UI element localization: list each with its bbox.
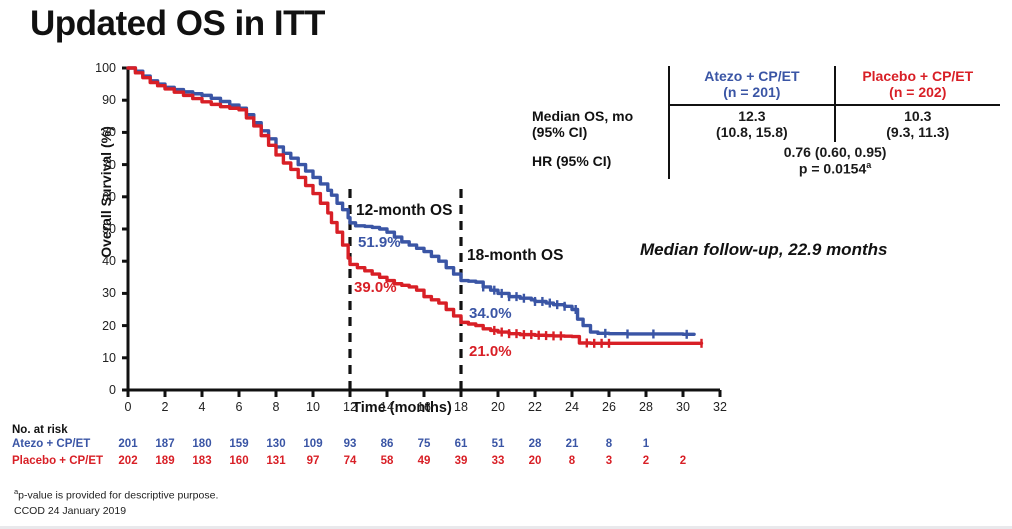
risk-value: 61 [449,438,473,450]
results-table: Atezo + CP/ET (n = 201) Placebo + CP/ET … [528,66,1000,179]
header-arm-atezo: Atezo + CP/ET (n = 201) [669,66,834,105]
annotation-18-month-os-atezo: 34.0% [469,305,512,322]
header-arm-atezo-name: Atezo + CP/ET [674,68,829,84]
footnote-0-text: p-value is provided for descriptive purp… [18,490,218,502]
risk-row-label: Placebo + CP/ET [12,455,103,467]
median-os-placebo-value: 10.3 [840,108,996,124]
risk-row-placebo: Placebo + CP/ET2021891831601319774584939… [12,455,68,472]
y-tick-0: 0 [86,383,116,397]
y-tick-90: 90 [86,93,116,107]
hr-p-text: p = 0.0154 [799,161,866,177]
risk-value: 202 [116,455,140,467]
risk-value: 33 [486,455,510,467]
risk-value: 21 [560,438,584,450]
x-tick-0: 0 [115,400,141,414]
x-tick-2: 2 [152,400,178,414]
x-tick-30: 30 [670,400,696,414]
risk-value: 187 [153,438,177,450]
x-tick-24: 24 [559,400,585,414]
footnote-1: CCOD 24 January 2019 [14,504,218,519]
y-tick-60: 60 [86,190,116,204]
risk-value: 75 [412,438,436,450]
risk-value: 130 [264,438,288,450]
risk-value: 160 [227,455,251,467]
risk-value: 28 [523,438,547,450]
results-table-header-row: Atezo + CP/ET (n = 201) Placebo + CP/ET … [528,66,1000,105]
header-arm-placebo-n: (n = 202) [840,84,996,100]
annotation-18-month-os-placebo: 21.0% [469,343,512,360]
row-label-median-os: Median OS, mo (95% CI) [528,105,669,142]
y-tick-40: 40 [86,254,116,268]
x-tick-20: 20 [485,400,511,414]
results-row-median-os: Median OS, mo (95% CI) 12.3 (10.8, 15.8)… [528,105,1000,142]
page-title: Updated OS in ITT [30,4,325,44]
risk-value: 2 [671,455,695,467]
risk-value: 1 [634,438,658,450]
slide-root: Updated OS in ITT Overall Survival (%) T… [0,0,1012,529]
no-at-risk-table: No. at risk Atezo + CP/ET201187180159130… [12,424,68,472]
y-tick-10: 10 [86,351,116,365]
risk-value: 51 [486,438,510,450]
risk-value: 86 [375,438,399,450]
risk-value: 159 [227,438,251,450]
risk-value: 74 [338,455,362,467]
x-tick-28: 28 [633,400,659,414]
footnotes: ap-value is provided for descriptive pur… [14,487,218,519]
hr-value: 0.76 (0.60, 0.95) [674,144,996,160]
x-tick-32: 32 [707,400,733,414]
x-tick-10: 10 [300,400,326,414]
y-tick-100: 100 [86,61,116,75]
x-tick-26: 26 [596,400,622,414]
risk-value: 183 [190,455,214,467]
x-tick-6: 6 [226,400,252,414]
risk-value: 2 [634,455,658,467]
followup-note: Median follow-up, 22.9 months [640,240,887,260]
risk-value: 20 [523,455,547,467]
x-tick-4: 4 [189,400,215,414]
hr-p-value: p = 0.0154a [674,160,996,177]
row-label-line1: Median OS, mo [532,108,664,124]
x-tick-22: 22 [522,400,548,414]
header-blank [528,66,669,105]
hr-p-superscript: a [866,160,871,170]
annotation-12-month-os-placebo: 39.0% [354,279,397,296]
results-row-hr: HR (95% CI) 0.76 (0.60, 0.95) p = 0.0154… [528,142,1000,179]
annotation-12-month-os-label: 12-month OS [356,202,452,220]
no-at-risk-title: No. at risk [12,424,68,436]
x-tick-18: 18 [448,400,474,414]
x-tick-12: 12 [337,400,363,414]
header-arm-atezo-n: (n = 201) [674,84,829,100]
risk-row-atezo: Atezo + CP/ET201187180159130109938675615… [12,438,68,455]
risk-value: 189 [153,455,177,467]
annotation-12-month-os-atezo: 51.9% [358,234,401,251]
risk-value: 180 [190,438,214,450]
risk-value: 3 [597,455,621,467]
y-tick-80: 80 [86,125,116,139]
x-tick-16: 16 [411,400,437,414]
risk-value: 58 [375,455,399,467]
risk-value: 93 [338,438,362,450]
risk-value: 8 [597,438,621,450]
risk-value: 201 [116,438,140,450]
row-label-hr: HR (95% CI) [528,142,669,179]
median-os-placebo-ci: (9.3, 11.3) [840,124,996,140]
risk-value: 49 [412,455,436,467]
median-os-atezo-value: 12.3 [674,108,829,124]
row-label-line2: (95% CI) [532,124,664,140]
x-tick-14: 14 [374,400,400,414]
risk-value: 39 [449,455,473,467]
footnote-0: ap-value is provided for descriptive pur… [14,487,218,504]
y-tick-70: 70 [86,158,116,172]
hr-value-cell: 0.76 (0.60, 0.95) p = 0.0154a [669,142,1000,179]
median-os-placebo: 10.3 (9.3, 11.3) [835,105,1000,142]
risk-value: 97 [301,455,325,467]
x-tick-8: 8 [263,400,289,414]
risk-row-label: Atezo + CP/ET [12,438,90,450]
footnote-1-text: CCOD 24 January 2019 [14,505,126,517]
y-tick-30: 30 [86,286,116,300]
y-tick-20: 20 [86,319,116,333]
risk-value: 131 [264,455,288,467]
header-arm-placebo-name: Placebo + CP/ET [840,68,996,84]
annotation-18-month-os-label: 18-month OS [467,247,563,265]
risk-value: 109 [301,438,325,450]
y-tick-50: 50 [86,222,116,236]
median-os-atezo: 12.3 (10.8, 15.8) [669,105,834,142]
header-arm-placebo: Placebo + CP/ET (n = 202) [835,66,1000,105]
risk-value: 8 [560,455,584,467]
median-os-atezo-ci: (10.8, 15.8) [674,124,829,140]
